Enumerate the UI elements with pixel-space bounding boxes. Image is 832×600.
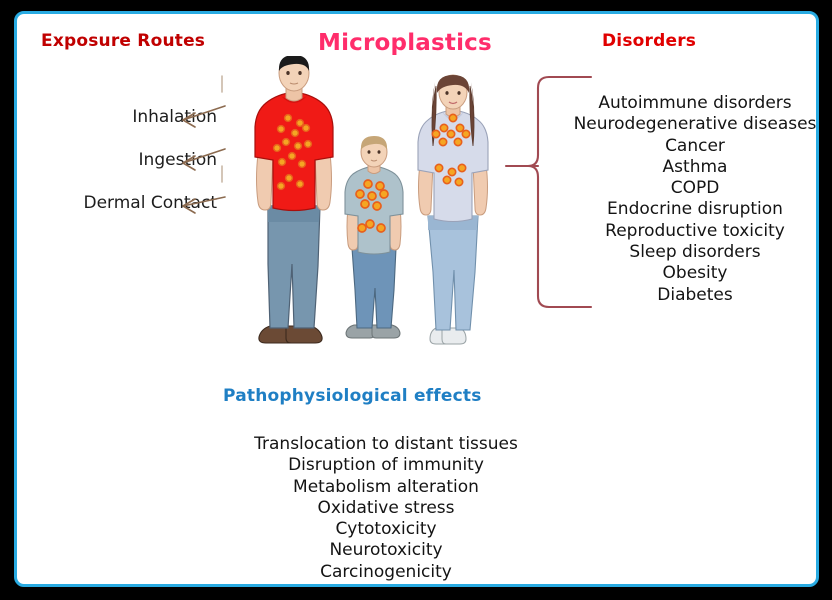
disorder-item: Sleep disorders [545, 242, 819, 263]
effect-item: Oxidative stress [205, 498, 567, 519]
microplastics-title: Microplastics [318, 30, 492, 56]
disorder-item: Obesity [545, 263, 819, 284]
effect-item: Metabolism alteration [205, 477, 567, 498]
effect-item: Disruption of immunity [205, 455, 567, 476]
exposure-routes-heading: Exposure Routes [41, 31, 205, 51]
pathophysiological-effects-heading: Pathophysiological effects [223, 386, 482, 406]
infographic-card: Exposure Routes Microplastics Disorders … [14, 11, 819, 587]
effect-item: Neurotoxicity [205, 540, 567, 561]
disorders-heading: Disorders [602, 31, 696, 51]
disorders-list: Autoimmune disordersNeurodegenerative di… [545, 93, 819, 306]
figure-adult-man [255, 56, 333, 343]
disorder-item: Diabetes [545, 285, 819, 306]
figure-adult-woman [418, 75, 488, 344]
exposure-route-item: Dermal Contact [17, 193, 217, 236]
disorder-item: Cancer [545, 136, 819, 157]
figure-child-boy [345, 136, 403, 338]
effect-item: Cytotoxicity [205, 519, 567, 540]
disorder-item: Asthma [545, 157, 819, 178]
effect-item: Translocation to distant tissues [205, 434, 567, 455]
pathophysiological-effects-list: Translocation to distant tissuesDisrupti… [205, 434, 567, 583]
disorder-item: Neurodegenerative diseases [545, 114, 819, 135]
exposure-route-item: Ingestion [17, 150, 217, 193]
disorder-item: Reproductive toxicity [545, 221, 819, 242]
exposure-routes-list: InhalationIngestionDermal Contact [17, 107, 217, 236]
disorder-item: COPD [545, 178, 819, 199]
effect-item: Carcinogenicity [205, 562, 567, 583]
infographic-canvas: Exposure Routes Microplastics Disorders … [0, 0, 832, 600]
people-illustration [248, 56, 498, 354]
disorder-item: Autoimmune disorders [545, 93, 819, 114]
disorder-item: Endocrine disruption [545, 199, 819, 220]
exposure-route-item: Inhalation [17, 107, 217, 150]
